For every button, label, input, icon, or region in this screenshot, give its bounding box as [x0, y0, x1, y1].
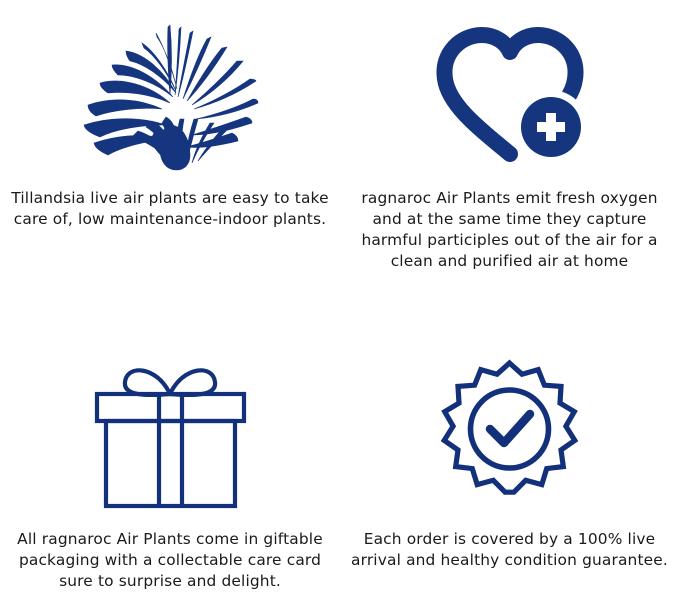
feature-caption: Tillandsia live air plants are easy to t… [3, 188, 337, 230]
heart-plus-icon [425, 21, 595, 171]
air-plant-icon-wrap [80, 6, 260, 186]
feature-caption: ragnaroc Air Plants emit fresh oxygen an… [343, 188, 677, 272]
guarantee-badge-icon [427, 355, 592, 520]
heart-plus-icon-wrap [425, 6, 595, 186]
gift-box-icon [83, 358, 258, 518]
feature-cell-giftable-packaging: All ragnaroc Air Plants come in giftable… [0, 308, 340, 616]
feature-grid: Tillandsia live air plants are easy to t… [0, 0, 679, 616]
guarantee-badge-icon-wrap [427, 350, 592, 525]
gift-box-icon-wrap [83, 350, 258, 525]
feature-caption: All ragnaroc Air Plants come in giftable… [2, 529, 339, 592]
feature-cell-fresh-oxygen: ragnaroc Air Plants emit fresh oxygen an… [340, 0, 679, 308]
feature-cell-air-plant-care: Tillandsia live air plants are easy to t… [0, 0, 340, 308]
air-plant-icon [80, 21, 260, 171]
feature-cell-live-arrival-guarantee: Each order is covered by a 100% live arr… [340, 308, 679, 616]
feature-caption: Each order is covered by a 100% live arr… [343, 529, 677, 571]
